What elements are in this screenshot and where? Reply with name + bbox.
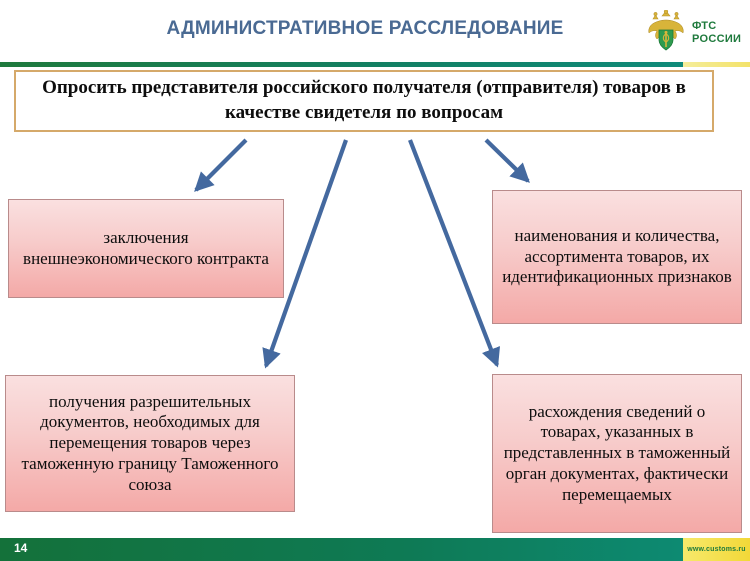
node-text-discrepancies: расхождения сведений о товарах, указанны… <box>502 402 732 506</box>
fts-logo-line2: РОССИИ <box>692 33 741 46</box>
fts-logo-text: ФТС РОССИИ <box>692 20 741 45</box>
arrow-to-names <box>486 140 528 181</box>
footer-url-link[interactable]: www.customs.ru <box>687 546 746 553</box>
fts-logo: ФТС РОССИИ <box>645 8 747 58</box>
header-divider <box>0 62 750 67</box>
node-box-names: наименования и количества, ассортимента … <box>492 190 742 324</box>
slide-header: АДМИНИСТРАТИВНОЕ РАССЛЕДОВАНИЕ <box>0 0 750 62</box>
slide-footer: 14 www.customs.ru <box>0 538 750 561</box>
node-text-contract: заключения внешнеэкономического контракт… <box>18 228 274 269</box>
root-question-box: Опросить представителя российского получ… <box>14 70 714 132</box>
arrow-to-discrepancies <box>410 140 497 365</box>
fts-logo-line1: ФТС <box>692 20 741 33</box>
node-box-permits: получения разрешительных документов, нео… <box>5 375 295 512</box>
footer-green-bar: 14 <box>0 538 683 561</box>
divider-yellow-segment <box>683 62 750 67</box>
arrow-to-contract <box>196 140 246 190</box>
page-title: АДМИНИСТРАТИВНОЕ РАССЛЕДОВАНИЕ <box>150 18 580 40</box>
slide: АДМИНИСТРАТИВНОЕ РАССЛЕДОВАНИЕ <box>0 0 750 561</box>
node-text-names: наименования и количества, ассортимента … <box>502 226 732 288</box>
root-question-text: Опросить представителя российского получ… <box>30 76 698 125</box>
divider-green-segment <box>0 62 683 67</box>
node-text-permits: получения разрешительных документов, нео… <box>15 392 285 496</box>
page-number: 14 <box>14 541 27 555</box>
node-box-contract: заключения внешнеэкономического контракт… <box>8 199 284 298</box>
node-box-discrepancies: расхождения сведений о товарах, указанны… <box>492 374 742 533</box>
fts-double-headed-eagle-emblem <box>645 10 687 56</box>
footer-yellow-bar: www.customs.ru <box>683 538 750 561</box>
